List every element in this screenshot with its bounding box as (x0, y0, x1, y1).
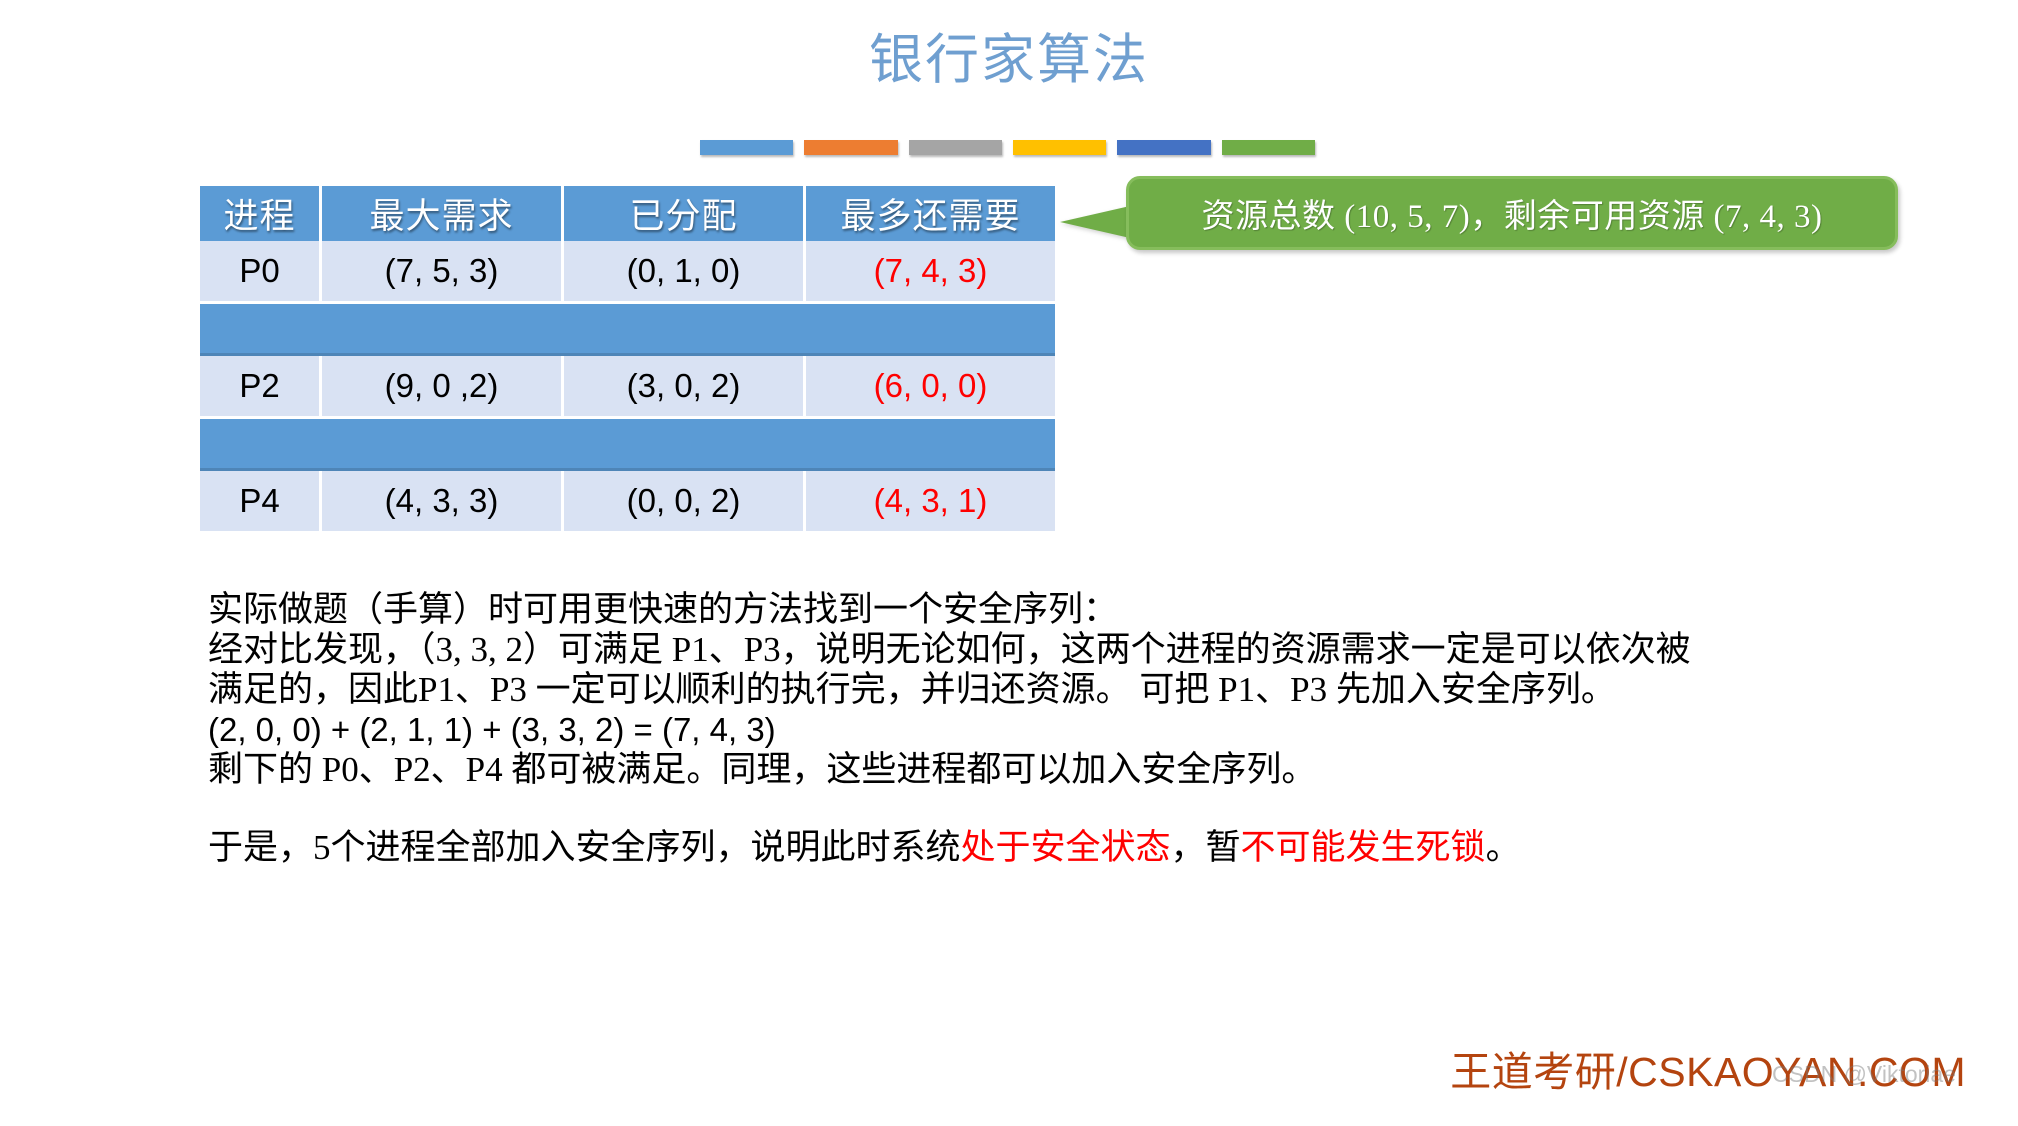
color-bar-5 (1117, 140, 1210, 155)
footer-brand: 王道考研/CSKAOYAN.COM (1450, 1038, 1966, 1098)
cell-max: (4, 3, 3) (322, 471, 564, 534)
cell-max: (7, 5, 3) (322, 241, 564, 304)
conclusion-text-part-3: 。 (1486, 828, 1521, 867)
explanation-line-6: 于是，5个进程全部加入安全序列，说明此时系统处于安全状态，暂不可能发生死锁。 (208, 828, 1948, 868)
cell-process: P2 (200, 356, 322, 419)
cell-need: (7, 4, 3) (806, 241, 1055, 304)
explanation-line-5: 剩下的 P0、P2、P4 都可被满足。同理，这些进程都可以加入安全序列。 (208, 750, 1948, 790)
text-spacer (208, 790, 1948, 828)
page-title: 银行家算法 (0, 28, 2018, 92)
conclusion-text-part-1: 于是，5个进程全部加入安全序列，说明此时系统 (208, 828, 961, 867)
explanation-line-1: 实际做题（手算）时可用更快速的方法找到一个安全序列： (208, 590, 1948, 630)
cell-process: P0 (200, 241, 322, 304)
covered-overlay (200, 304, 1055, 356)
conclusion-highlight-safe-state: 处于安全状态 (961, 828, 1171, 867)
cell-allocated: (0, 0, 2) (564, 471, 806, 534)
cell-max: (9, 0 ,2) (322, 356, 564, 419)
cell-need: (6, 0, 0) (806, 356, 1055, 419)
cell-allocated: (3, 0, 2) (564, 356, 806, 419)
resource-total-callout: 资源总数 (10, 5, 7)，剩余可用资源 (7, 4, 3) (1126, 176, 1898, 250)
cell-process: P4 (200, 471, 322, 534)
table-row: P0 (7, 5, 3) (0, 1, 0) (7, 4, 3) (200, 241, 1055, 304)
explanation-line-4: (2, 0, 0) + (2, 1, 1) + (3, 3, 2) = (7, … (208, 710, 1948, 750)
table-header-process: 进程 (200, 186, 322, 241)
conclusion-text-part-2: ，暂 (1171, 828, 1241, 867)
color-bar-6 (1222, 140, 1315, 155)
table-row-covered (200, 419, 1055, 471)
callout-pointer-icon (1060, 206, 1130, 238)
table-row-covered (200, 304, 1055, 356)
table-row: P4 (4, 3, 3) (0, 0, 2) (4, 3, 1) (200, 471, 1055, 534)
cell-need: (4, 3, 1) (806, 471, 1055, 534)
table-row: P2 (9, 0 ,2) (3, 0, 2) (6, 0, 0) (200, 356, 1055, 419)
cell-allocated: (0, 1, 0) (564, 241, 806, 304)
table-header-max: 最大需求 (322, 186, 564, 241)
explanation-line-2: 经对比发现，（3, 3, 2）可满足 P1、P3，说明无论如何，这两个进程的资源… (208, 630, 1948, 670)
table-header-need: 最多还需要 (806, 186, 1055, 241)
explanation-text-block: 实际做题（手算）时可用更快速的方法找到一个安全序列： 经对比发现，（3, 3, … (208, 590, 1948, 868)
explanation-line-3: 满足的，因此P1、P3 一定可以顺利的执行完，并归还资源。 可把 P1、P3 先… (208, 670, 1948, 710)
process-resource-table: 进程 最大需求 已分配 最多还需要 P0 (7, 5, 3) (0, 1, 0)… (200, 186, 1055, 534)
color-bar-1 (700, 140, 793, 155)
conclusion-highlight-no-deadlock: 不可能发生死锁 (1241, 828, 1486, 867)
table-header-row: 进程 最大需求 已分配 最多还需要 (200, 186, 1055, 241)
color-bar-3 (909, 140, 1002, 155)
color-bar-2 (804, 140, 897, 155)
callout-text: 资源总数 (10, 5, 7)，剩余可用资源 (7, 4, 3) (1202, 189, 1823, 237)
covered-overlay (200, 419, 1055, 471)
color-bar-4 (1013, 140, 1106, 155)
table-header-allocated: 已分配 (564, 186, 806, 241)
decorative-color-bars (700, 140, 1315, 158)
